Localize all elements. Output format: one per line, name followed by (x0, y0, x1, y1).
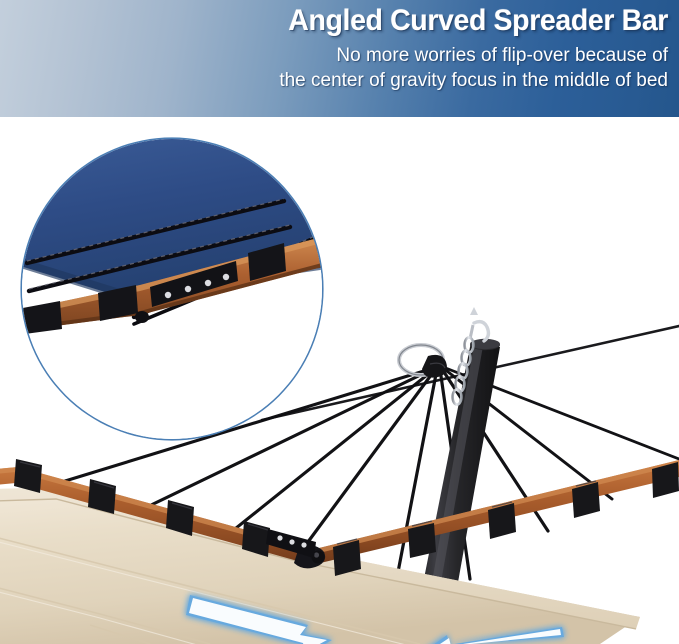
closeup-illustration (22, 139, 322, 439)
spreader-bar-closeup-inset (22, 139, 322, 439)
page-title: Angled Curved Spreader Bar (155, 4, 668, 37)
closeup-rope-knot (135, 311, 149, 323)
banner-subtitle-line-1: No more worries of flip-over because of (128, 43, 668, 68)
rope-knot (422, 355, 447, 378)
banner-text-block: Angled Curved Spreader Bar No more worri… (128, 4, 668, 93)
banner-subtitle-line-2: the center of gravity focus in the middl… (128, 68, 668, 93)
product-photo (0, 117, 679, 644)
carabiner-hook-icon (474, 322, 488, 341)
product-feature-image: Angled Curved Spreader Bar No more worri… (0, 0, 679, 644)
hammock-bed (0, 487, 640, 644)
header-banner: Angled Curved Spreader Bar No more worri… (0, 0, 679, 117)
